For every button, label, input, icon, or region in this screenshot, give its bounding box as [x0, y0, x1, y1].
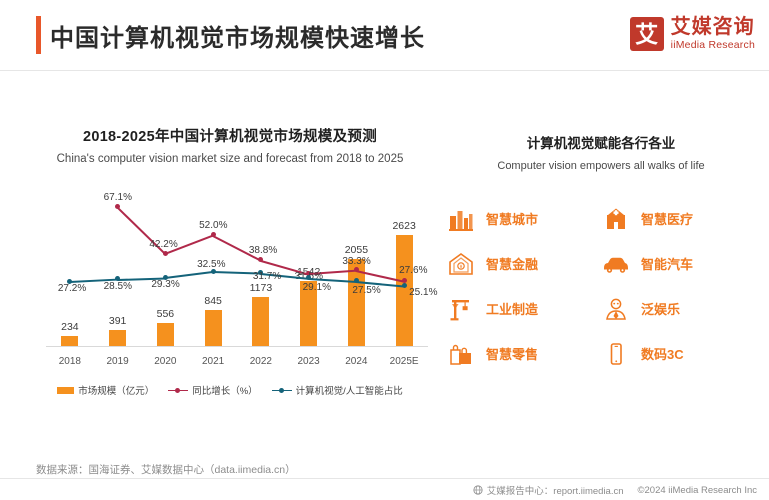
bar-2020: [157, 323, 174, 346]
bar-2022: [252, 297, 269, 346]
legend-swatch-bar: [57, 387, 74, 394]
x-axis-tick: 2019: [96, 356, 140, 367]
bar-value-label: 2623: [382, 220, 426, 232]
chart-legend: 市场规模（亿元）同比增长（%）计算机视觉/人工智能占比: [20, 383, 440, 397]
application-label: 数码3C: [641, 344, 684, 363]
bar-value-label: 391: [96, 315, 140, 327]
point-value-label: 32.5%: [197, 259, 225, 270]
point-value-label: 27.2%: [58, 283, 86, 294]
legend-label: 市场规模（亿元）: [78, 383, 154, 397]
person-entertainment-icon: [601, 295, 631, 323]
legend-swatch-line: [272, 387, 292, 394]
logo-text: 艾媒咨询 iiMedia Research: [671, 17, 755, 51]
applications-title: 计算机视觉赋能各行各业: [446, 132, 756, 152]
point-value-label: 25.1%: [409, 287, 437, 298]
point-value-label: 52.0%: [199, 220, 227, 231]
application-item-2[interactable]: 智慧医疗: [601, 196, 756, 241]
header: 中国计算机视觉市场规模快速增长 艾 艾媒咨询 iiMedia Research: [0, 0, 769, 70]
car-icon: [601, 250, 631, 278]
data-point: [402, 283, 407, 288]
legend-item-2[interactable]: 计算机视觉/人工智能占比: [272, 383, 403, 397]
point-value-label: 28.5%: [104, 281, 132, 292]
x-axis-line: [46, 346, 428, 347]
legend-label: 同比增长（%）: [192, 383, 257, 397]
point-value-label: 31.7%: [253, 271, 281, 282]
legend-item-1[interactable]: 同比增长（%）: [168, 383, 257, 397]
point-value-label: 33.3%: [342, 256, 370, 267]
application-label: 智慧金融: [486, 254, 538, 273]
applications-panel: 计算机视觉赋能各行各业 Computer vision empowers all…: [446, 132, 756, 376]
application-label: 智慧城市: [486, 209, 538, 228]
application-label: 泛娱乐: [641, 299, 680, 318]
chart-subtitle: China's computer vision market size and …: [20, 153, 440, 165]
legend-label: 计算机视觉/人工智能占比: [296, 383, 403, 397]
report-center-link[interactable]: 艾媒报告中心：report.iimedia.cn: [487, 483, 624, 497]
application-label: 智慧医疗: [641, 209, 693, 228]
data-point: [163, 251, 168, 256]
x-axis-tick: 2023: [287, 356, 331, 367]
line-segment: [165, 271, 213, 279]
legend-item-0[interactable]: 市场规模（亿元）: [57, 383, 154, 397]
applications-subtitle: Computer vision empowers all walks of li…: [446, 160, 756, 172]
footer-divider: [0, 478, 769, 479]
point-value-label: 67.1%: [104, 192, 132, 203]
application-item-1[interactable]: 智慧城市: [446, 196, 601, 241]
shopping-bag-icon: [446, 340, 476, 368]
x-axis-tick: 2020: [143, 356, 187, 367]
globe-icon: [473, 485, 483, 495]
chart-title: 2018-2025年中国计算机视觉市场规模及预测: [20, 125, 440, 146]
point-value-label: 29.1%: [303, 282, 331, 293]
bar-2021: [205, 310, 222, 346]
bar-value-label: 2055: [334, 244, 378, 256]
point-value-label: 27.5%: [352, 285, 380, 296]
point-value-label: 38.8%: [249, 245, 277, 256]
point-value-label: 29.3%: [151, 279, 179, 290]
bar-value-label: 234: [48, 321, 92, 333]
logo-mark-icon: 艾: [630, 17, 664, 51]
bar-value-label: 556: [143, 308, 187, 320]
bar-value-label: 845: [191, 295, 235, 307]
crane-icon: [446, 295, 476, 323]
application-label: 智慧零售: [486, 344, 538, 363]
bar-2019: [109, 330, 126, 346]
header-divider: [0, 70, 769, 71]
hospital-icon: [601, 205, 631, 233]
brand-logo: 艾 艾媒咨询 iiMedia Research: [630, 17, 755, 51]
title-accent-bar: [36, 16, 41, 54]
x-axis-tick: 2022: [239, 356, 283, 367]
smartphone-icon: [601, 340, 631, 368]
copyright-text: ©2024 iiMedia Research Inc: [638, 485, 757, 496]
application-label: 工业制造: [486, 299, 538, 318]
logo-name-en: iiMedia Research: [671, 39, 755, 51]
legend-swatch-line: [168, 387, 188, 394]
application-item-3[interactable]: ¥智慧金融: [446, 241, 601, 286]
application-item-6[interactable]: 泛娱乐: [601, 286, 756, 331]
x-axis-tick: 2021: [191, 356, 235, 367]
page-root: 中国计算机视觉市场规模快速增长 艾 艾媒咨询 iiMedia Research …: [0, 0, 769, 500]
x-axis-tick: 2018: [48, 356, 92, 367]
x-axis-tick: 2025E: [382, 356, 426, 367]
application-item-7[interactable]: 智慧零售: [446, 331, 601, 376]
application-item-8[interactable]: 数码3C: [601, 331, 756, 376]
x-axis-tick: 2024: [334, 356, 378, 367]
application-item-4[interactable]: 智能汽车: [601, 241, 756, 286]
bar-value-label: 1173: [239, 282, 283, 294]
page-title: 中国计算机视觉市场规模快速增长: [50, 18, 425, 53]
data-source-note: 数据来源：国海证券、艾媒数据中心（data.iimedia.cn）: [36, 462, 296, 477]
footer-right: 艾媒报告中心：report.iimedia.cn ©2024 iiMedia R…: [473, 483, 757, 497]
bar-2018: [61, 336, 78, 346]
application-label: 智能汽车: [641, 254, 693, 273]
point-value-label: 42.2%: [149, 239, 177, 250]
application-item-5[interactable]: 工业制造: [446, 286, 601, 331]
bank-house-icon: ¥: [446, 250, 476, 278]
chart-panel: 2018-2025年中国计算机视觉市场规模及预测 China's compute…: [20, 125, 440, 415]
chart-plot-area: 2342018391201955620208452021117320221542…: [20, 179, 440, 369]
svg-text:¥: ¥: [460, 264, 463, 270]
city-buildings-icon: [446, 205, 476, 233]
logo-name-cn: 艾媒咨询: [671, 17, 755, 38]
point-value-label: 27.6%: [399, 265, 427, 276]
applications-grid: 智慧城市智慧医疗¥智慧金融智能汽车工业制造泛娱乐智慧零售数码3C: [446, 196, 756, 376]
